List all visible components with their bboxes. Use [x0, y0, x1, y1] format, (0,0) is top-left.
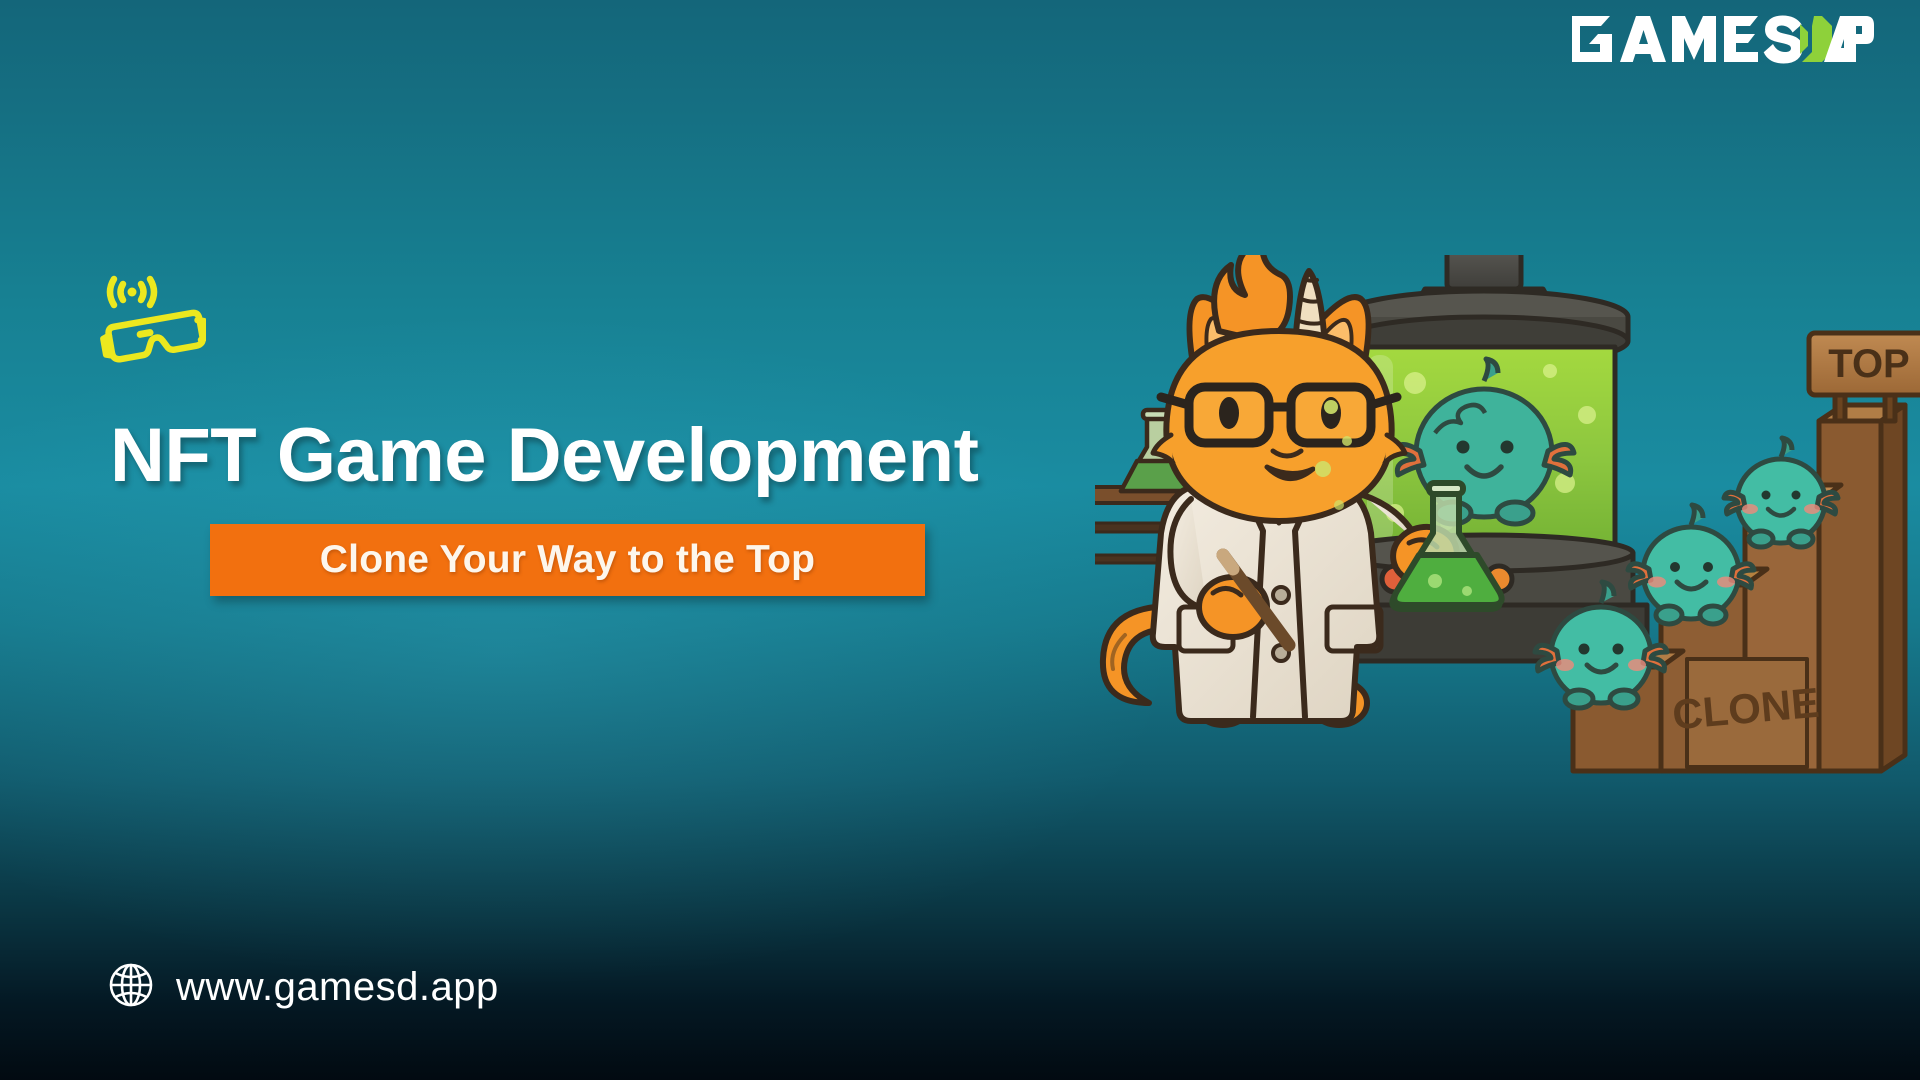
subtitle-banner: Clone Your Way to the Top [210, 524, 925, 596]
nft-game-development-banner: NFT Game Development Clone Your Way to t… [0, 0, 1920, 1080]
subtitle-text: Clone Your Way to the Top [320, 538, 815, 582]
vr-headset-icon [96, 272, 206, 377]
lab-illustration: CLONE TOP [1095, 255, 1920, 795]
top-sign-text: TOP [1828, 342, 1910, 386]
globe-icon [108, 962, 154, 1013]
footer[interactable]: www.gamesd.app [108, 962, 499, 1013]
logo-wordmark-svg [1568, 12, 1874, 66]
page-title: NFT Game Development [110, 412, 978, 499]
background-glow [0, 300, 1200, 1000]
gamesdapp-logo[interactable] [1568, 12, 1874, 66]
website-url[interactable]: www.gamesd.app [176, 965, 499, 1010]
